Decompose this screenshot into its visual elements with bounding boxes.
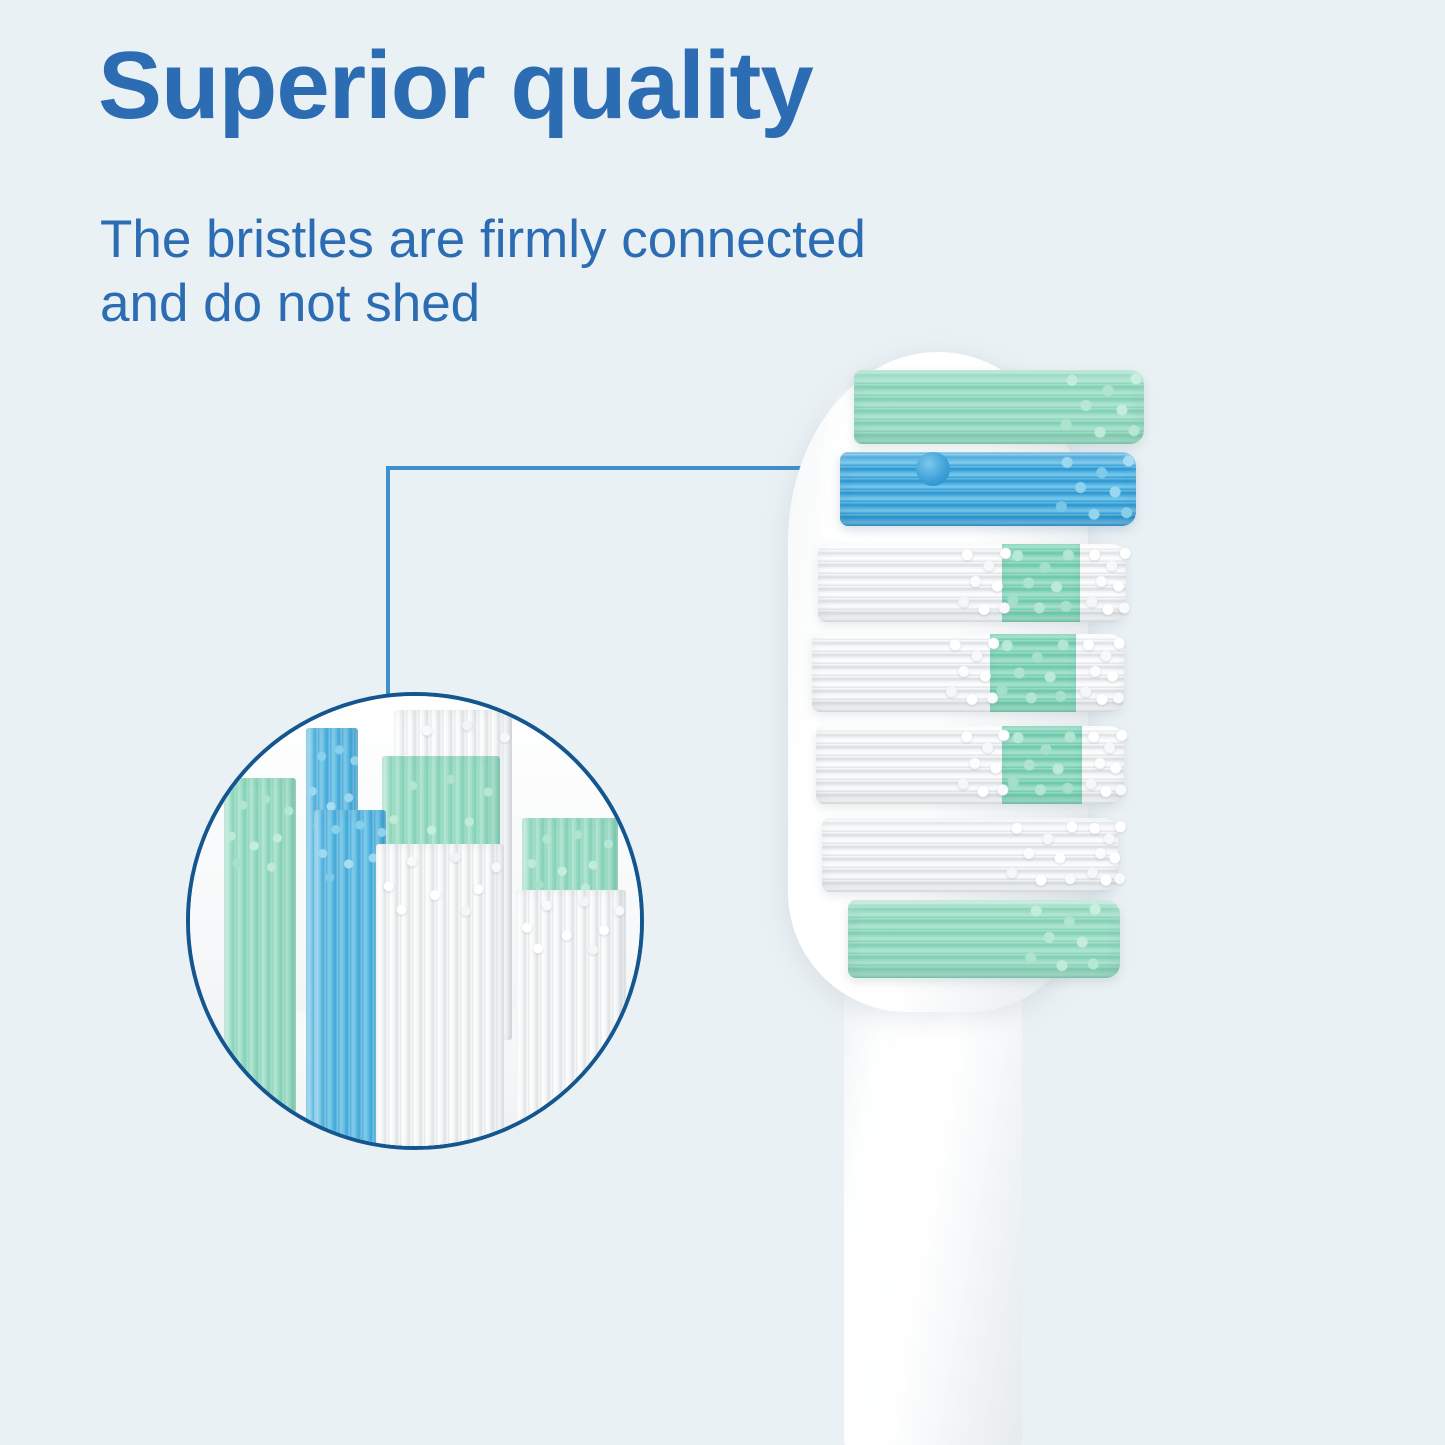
bristle-rounded-tips bbox=[522, 818, 618, 894]
bristle-row-7-mint bbox=[848, 900, 1120, 978]
bristle-row-tips-outer bbox=[1084, 726, 1128, 804]
toothbrush-head-photo bbox=[770, 330, 1200, 1445]
magnified-bristle-detail-circle bbox=[186, 692, 644, 1150]
bristle-row-tips bbox=[942, 634, 1002, 712]
magnifier-tuft-mint-tall-left bbox=[224, 778, 296, 1150]
bristle-row-tips bbox=[998, 818, 1084, 892]
callout-connector-dot bbox=[916, 452, 950, 486]
magnifier-scene bbox=[186, 692, 644, 1150]
bristle-row-tips bbox=[1046, 452, 1142, 526]
subtitle-line-1: The bristles are firmly connected bbox=[100, 208, 1100, 272]
bristle-row-4-white-green bbox=[812, 634, 1124, 712]
page-title: Superior quality bbox=[98, 38, 813, 134]
bristle-row-tips-outer bbox=[1084, 544, 1132, 622]
bristle-row-1-mint bbox=[854, 370, 1144, 444]
bristle-row-5-white-green bbox=[816, 726, 1124, 804]
bristle-row-tips bbox=[1050, 370, 1150, 444]
bristle-row-tips bbox=[1016, 900, 1108, 978]
bristle-row-3-white-green bbox=[818, 544, 1126, 622]
bristle-row-tips-outer bbox=[1086, 818, 1126, 892]
bristle-row-tips bbox=[954, 544, 1014, 622]
bristle-row-tips bbox=[954, 726, 1012, 804]
magnifier-tuft-white-right bbox=[516, 890, 626, 1140]
subtitle-line-2: and do not shed bbox=[100, 272, 1100, 336]
bristle-row-green-segment bbox=[990, 634, 1076, 712]
subtitle: The bristles are firmly connected and do… bbox=[100, 208, 1100, 335]
magnifier-tuft-white-front-big bbox=[376, 844, 504, 1150]
bristle-rounded-tips bbox=[376, 844, 504, 917]
bristle-row-tips-outer bbox=[1078, 634, 1126, 712]
bristle-row-green-segment bbox=[1002, 726, 1082, 804]
bristle-rounded-tips bbox=[224, 778, 296, 875]
bristle-rounded-tips bbox=[516, 890, 626, 955]
product-infographic-canvas: Superior quality The bristles are firmly… bbox=[0, 0, 1445, 1445]
bristle-row-2-blue bbox=[840, 452, 1136, 526]
bristle-row-6-white bbox=[822, 818, 1118, 892]
